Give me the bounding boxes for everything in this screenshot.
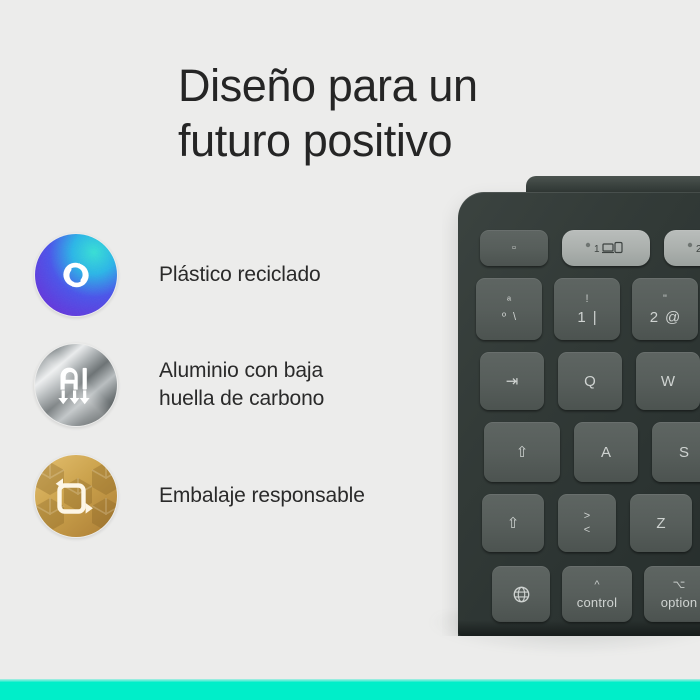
key-tab-glyph: ⇥ <box>506 374 519 389</box>
key-2-alt: @ <box>665 310 680 325</box>
key-1-top: ! <box>585 294 588 305</box>
feature-label: Embalaje responsable <box>159 482 365 510</box>
promo-banner: Diseño para un futuro positivo <box>0 0 700 700</box>
key-esc[interactable]: ▫ <box>480 230 548 266</box>
keyboard-body: ▫ 1 2 <box>458 192 700 636</box>
feature-label: Plástico reciclado <box>159 261 321 289</box>
key-w[interactable]: W <box>636 352 700 410</box>
key-z[interactable]: Z <box>630 494 692 552</box>
page-title-line-1: Diseño para un <box>178 58 648 113</box>
key-a-glyph: A <box>601 445 611 460</box>
recycled-plastic-icon <box>34 233 118 317</box>
key-s-glyph: S <box>679 445 689 460</box>
key-q-glyph: Q <box>584 374 596 389</box>
key-control-label: control <box>577 596 617 609</box>
key-1-glyph: 1 <box>577 310 585 325</box>
keyboard-image: ▫ 1 2 <box>442 176 700 636</box>
key-z-glyph: Z <box>656 516 665 531</box>
key-option-top: ⌥ <box>673 580 686 591</box>
key-2-glyph: 2 <box>650 310 658 325</box>
responsible-packaging-icon <box>34 454 118 538</box>
key-a[interactable]: A <box>574 422 638 482</box>
feature-label: Aluminio con baja huella de carbono <box>159 357 324 413</box>
key-easyswitch-1[interactable]: 1 <box>562 230 650 266</box>
key-option[interactable]: ⌥ option <box>644 566 700 622</box>
svg-text:1: 1 <box>594 244 600 255</box>
key-masculine-ordinal-top: ª <box>507 296 511 307</box>
key-1[interactable]: ! 1 | <box>554 278 620 340</box>
key-masculine-ordinal-glyph: º <box>502 312 506 323</box>
key-1-alt: | <box>593 310 597 325</box>
key-2-top: " <box>663 294 667 305</box>
key-control[interactable]: ^ control <box>562 566 632 622</box>
key-s[interactable]: S <box>652 422 700 482</box>
key-angle-brackets-glyph: < <box>584 525 590 536</box>
page-title-line-2: futuro positivo <box>178 113 648 168</box>
key-caps-lock-glyph: ⇧ <box>516 445 529 460</box>
key-option-label: option <box>661 596 698 609</box>
key-angle-brackets[interactable]: > < <box>558 494 616 552</box>
key-angle-brackets-top: > <box>584 511 590 522</box>
key-tab[interactable]: ⇥ <box>480 352 544 410</box>
key-control-top: ^ <box>594 580 599 591</box>
key-masculine-ordinal[interactable]: ª º \ <box>476 278 542 340</box>
feature-item-responsible-packaging: Embalaje responsable <box>34 454 454 538</box>
bottom-accent-bar <box>0 682 700 700</box>
key-2[interactable]: " 2 @ <box>632 278 698 340</box>
key-globe[interactable] <box>492 566 550 622</box>
svg-text:2: 2 <box>696 244 700 255</box>
key-easyswitch-2[interactable]: 2 <box>664 230 700 266</box>
easyswitch-1-icon: 1 <box>583 240 629 256</box>
low-carbon-aluminium-icon <box>34 343 118 427</box>
key-caps-lock[interactable]: ⇧ <box>484 422 560 482</box>
key-shift-glyph: ⇧ <box>507 516 520 531</box>
key-q[interactable]: Q <box>558 352 622 410</box>
easyswitch-2-icon: 2 <box>685 240 700 256</box>
page-title: Diseño para un futuro positivo <box>178 58 648 169</box>
feature-item-recycled-plastic: Plástico reciclado <box>34 233 454 317</box>
globe-icon <box>512 585 531 604</box>
key-masculine-ordinal-alt: \ <box>513 312 516 323</box>
key-w-glyph: W <box>661 374 675 389</box>
key-esc-glyph: ▫ <box>512 243 516 254</box>
feature-item-low-carbon-aluminium: Aluminio con baja huella de carbono <box>34 343 454 427</box>
key-shift[interactable]: ⇧ <box>482 494 544 552</box>
